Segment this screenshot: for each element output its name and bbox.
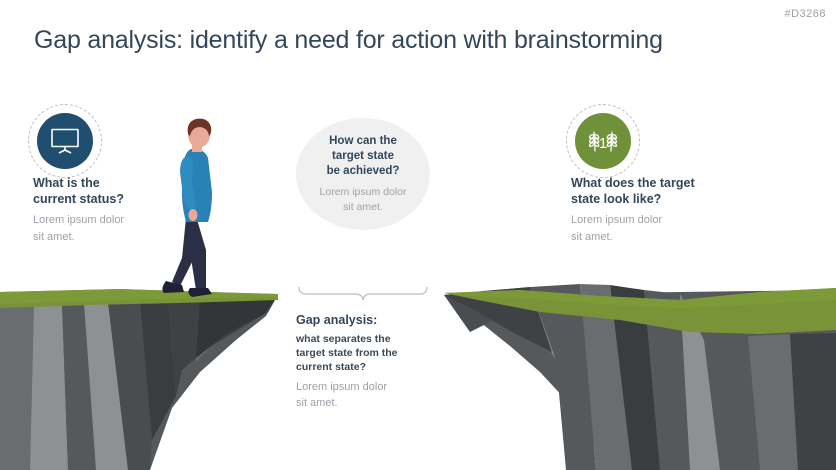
right-cliff bbox=[444, 284, 836, 470]
person-jacket bbox=[182, 149, 212, 222]
left-rock-stripe-3 bbox=[62, 303, 96, 470]
left-rock-stripe-4 bbox=[84, 302, 128, 470]
person-front-shoe bbox=[188, 288, 212, 297]
target-state-body: Lorem ipsum dolor sit amet. bbox=[571, 212, 746, 245]
gap-analysis-heading: Gap analysis: bbox=[296, 312, 446, 328]
target-state-icon-badge: 1 bbox=[566, 104, 640, 178]
how-can-target-state-be-achieved-circle: How can the target state be achieved? Lo… bbox=[296, 118, 430, 230]
right-rock-stripe-8 bbox=[680, 294, 720, 470]
right-rock-stripe-4 bbox=[530, 284, 596, 470]
right-rock-stripe-5 bbox=[580, 284, 632, 470]
target-state-body-line2: sit amet. bbox=[571, 231, 613, 243]
right-rock-stripe-3 bbox=[506, 287, 556, 360]
left-rock-stripe-6 bbox=[140, 300, 176, 440]
right-rock-base bbox=[444, 290, 836, 470]
gap-analysis-text-block: Gap analysis: what separates the target … bbox=[296, 312, 446, 412]
left-cliff bbox=[0, 289, 278, 470]
target-state-heading-line2: state look like? bbox=[571, 192, 661, 206]
gap-brace-bracket bbox=[299, 287, 427, 300]
current-status-heading-line2: current status? bbox=[33, 192, 124, 206]
current-status-body-line2: sit amet. bbox=[33, 231, 75, 243]
right-cliff-overhang-shadow bbox=[444, 287, 552, 352]
left-rock-stripe-7 bbox=[168, 299, 200, 396]
right-rock-stripe-11 bbox=[790, 333, 836, 470]
left-rock-stripe-10 bbox=[240, 296, 272, 327]
left-grass-top bbox=[0, 289, 278, 308]
right-rock-stripe-7 bbox=[644, 290, 690, 470]
center-circle-body: Lorem ipsum dolor sit amet. bbox=[320, 185, 407, 214]
target-state-body-line1: Lorem ipsum dolor bbox=[571, 214, 662, 226]
center-body-line1: Lorem ipsum dolor bbox=[320, 186, 407, 198]
laurel-number: 1 bbox=[599, 135, 607, 152]
left-rock-stripe-8 bbox=[196, 298, 226, 362]
left-rock-stripe-5 bbox=[108, 301, 152, 470]
right-grass-highlight bbox=[444, 288, 836, 308]
left-cliff-overhang-shadow bbox=[140, 294, 278, 396]
gap-analysis-sub-line1: what separates the bbox=[296, 333, 391, 345]
gap-analysis-body: Lorem ipsum dolor sit amet. bbox=[296, 379, 446, 412]
gap-analysis-body-line1: Lorem ipsum dolor bbox=[296, 381, 387, 393]
center-question-line1: How can the bbox=[329, 135, 397, 147]
gap-analysis-sub-line2: target state from the bbox=[296, 347, 398, 359]
left-rock-stripe-1 bbox=[0, 305, 34, 470]
left-grass-highlight bbox=[0, 289, 278, 304]
target-state-text-block: What does the target state look like? Lo… bbox=[571, 175, 746, 245]
center-circle-question: How can the target state be achieved? bbox=[327, 134, 400, 180]
current-status-heading: What is the current status? bbox=[33, 175, 183, 207]
presentation-board-icon bbox=[49, 127, 81, 155]
slide-canvas: #D3268 Gap analysis: identify a need for… bbox=[0, 0, 836, 470]
document-code-label: #D3268 bbox=[784, 8, 826, 20]
person-hand bbox=[189, 209, 198, 221]
center-body-line2: sit amet. bbox=[343, 201, 383, 213]
person-back-shoe bbox=[162, 281, 184, 293]
page-title: Gap analysis: identify a need for action… bbox=[34, 26, 663, 55]
left-rock-stripe-9 bbox=[216, 297, 248, 340]
current-status-body-line1: Lorem ipsum dolor bbox=[33, 214, 124, 226]
right-rock-stripe-10 bbox=[748, 334, 798, 470]
gap-analysis-subheading: what separates the target state from the… bbox=[296, 333, 446, 375]
target-state-icon-disc: 1 bbox=[575, 113, 631, 169]
person-head bbox=[188, 123, 210, 148]
person-front-leg bbox=[186, 216, 206, 290]
laurel-wreath-one-icon: 1 bbox=[585, 126, 621, 156]
right-rock-stripe-2 bbox=[472, 289, 536, 326]
right-rock-stripe-6 bbox=[610, 285, 660, 470]
current-status-icon-disc bbox=[37, 113, 93, 169]
target-state-heading-line1: What does the target bbox=[571, 176, 695, 190]
person-neck bbox=[192, 140, 202, 152]
gap-analysis-sub-line3: current state? bbox=[296, 361, 366, 373]
left-cliff-overhang-deep bbox=[196, 294, 278, 358]
person-hair bbox=[188, 119, 212, 136]
right-grass-top bbox=[444, 288, 836, 334]
current-status-text-block: What is the current status? Lorem ipsum … bbox=[33, 175, 183, 245]
left-rock-base bbox=[0, 295, 278, 470]
right-rock-stripe-9 bbox=[704, 336, 760, 470]
current-status-heading-line1: What is the bbox=[33, 176, 100, 190]
right-rock-stripe-1 bbox=[444, 292, 498, 332]
target-state-heading: What does the target state look like? bbox=[571, 175, 746, 207]
gap-analysis-body-line2: sit amet. bbox=[296, 397, 338, 409]
center-question-line3: be achieved? bbox=[327, 165, 400, 177]
current-status-body: Lorem ipsum dolor sit amet. bbox=[33, 212, 183, 245]
left-rock-stripe-2 bbox=[30, 304, 68, 470]
center-question-line2: target state bbox=[332, 150, 394, 162]
current-status-icon-badge bbox=[28, 104, 102, 178]
